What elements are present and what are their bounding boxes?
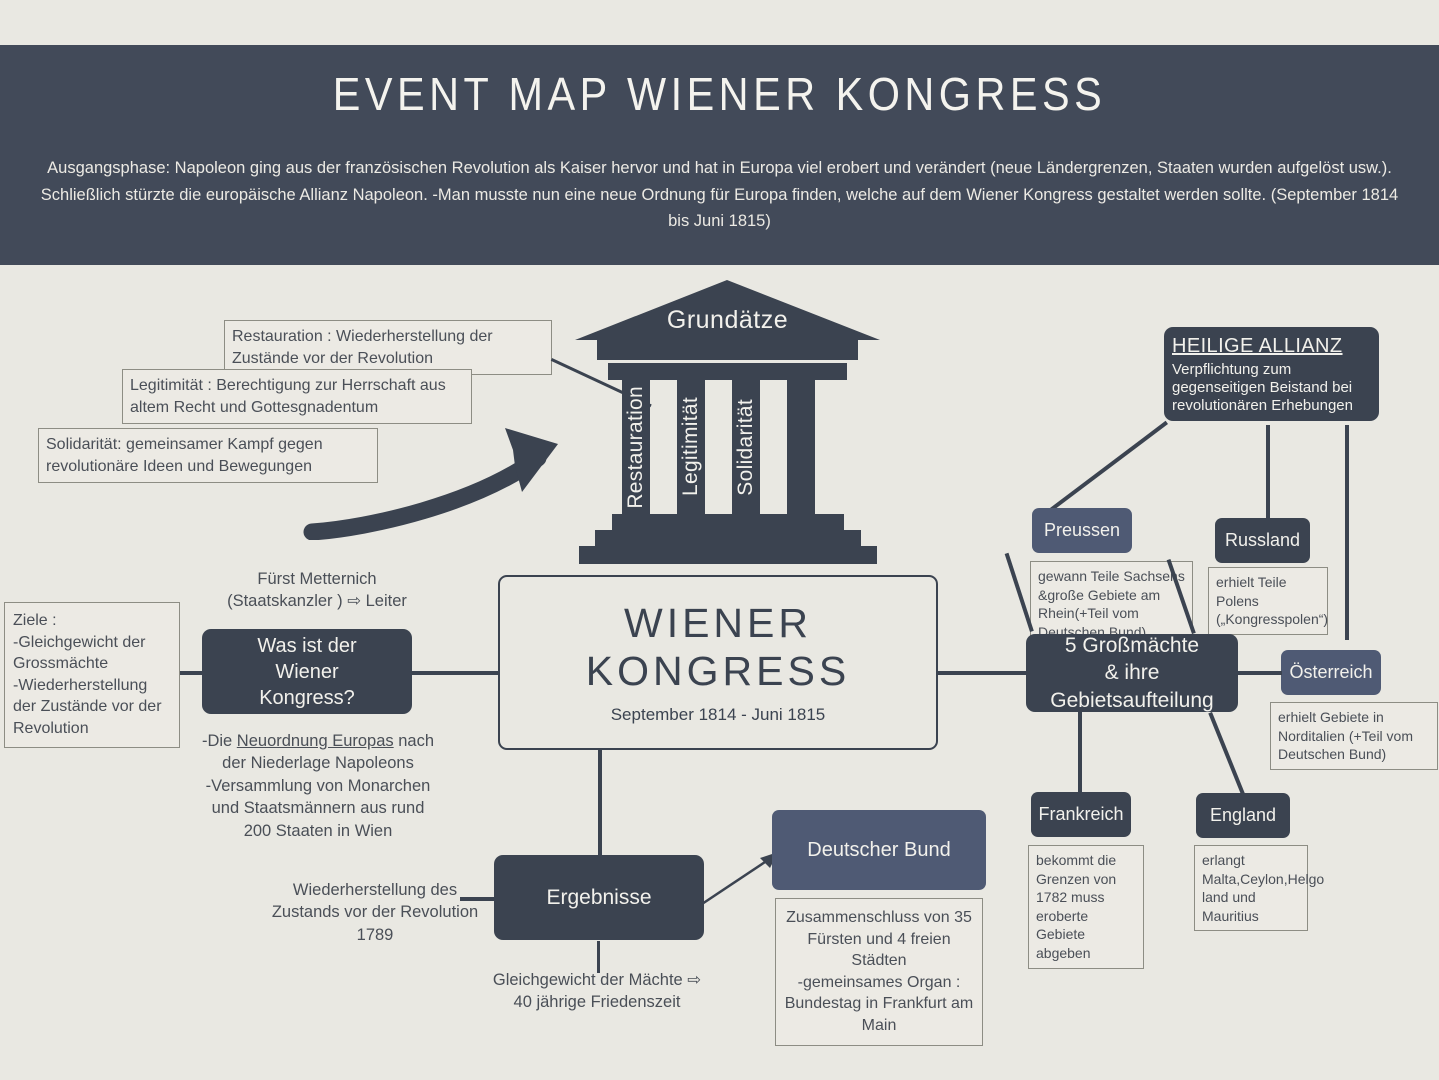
node-5-grossmaechte[interactable]: 5 Großmächte & ihre Gebietsaufteilung <box>1026 634 1238 712</box>
metternich-label: Fürst Metternich (Staatskanzler ) ⇨ Leit… <box>192 568 442 613</box>
temple-column-blank <box>787 380 815 514</box>
deutscher-bund-detail: Zusammenschluss von 35 Fürsten und 4 fre… <box>775 898 983 1046</box>
node-oesterreich[interactable]: Österreich <box>1281 650 1381 695</box>
connector-allianz-to-preussen <box>1050 421 1168 511</box>
central-node-wiener-kongress[interactable]: WIENER KONGRESS September 1814 - Juni 18… <box>498 575 938 750</box>
node-frankreich[interactable]: Frankreich <box>1031 792 1131 837</box>
header-band: EVENT MAP WIENER KONGRESS Ausgangsphase:… <box>0 45 1439 265</box>
definition-line2: der Niederlage Napoleons <box>222 754 414 772</box>
central-title-line2: KONGRESS <box>586 647 850 695</box>
definition-underlined: Neuordnung Europas <box>237 732 394 750</box>
definition-line5: 200 Staaten in Wien <box>244 822 393 840</box>
temple-column-restauration: Restauration <box>622 380 650 514</box>
grossmaechte-line1: 5 Großmächte <box>1065 632 1199 659</box>
frankreich-detail: bekommt die Grenzen von 1782 muss erober… <box>1028 845 1144 969</box>
central-subtitle: September 1814 - Juni 1815 <box>611 704 826 726</box>
grossmaechte-line2: & ihre <box>1105 659 1160 686</box>
oesterreich-detail: erhielt Gebiete in Norditalien (+Teil vo… <box>1270 702 1438 770</box>
grossmaechte-line3: Gebietsaufteilung <box>1050 687 1213 714</box>
event-map-canvas: EVENT MAP WIENER KONGRESS Ausgangsphase:… <box>0 0 1439 1080</box>
page-title: EVENT MAP WIENER KONGRESS <box>72 67 1367 121</box>
header-intro-text: Ausgangsphase: Napoleon ging aus der fra… <box>35 155 1405 235</box>
connector-allianz-to-russland <box>1266 425 1270 520</box>
node-was-ist-der-wiener-kongress[interactable]: Was ist der Wiener Kongress? <box>202 629 412 714</box>
node-russland[interactable]: Russland <box>1215 518 1310 563</box>
heilige-allianz-text: Verpflichtung zum gegenseitigen Beistand… <box>1172 361 1371 416</box>
node-heilige-allianz[interactable]: HEILIGE ALLIANZ Verpflichtung zum gegens… <box>1164 327 1379 421</box>
temple-column-label: Solidarität <box>734 399 758 496</box>
results-bottom-note: Gleichgewicht der Mächte ⇨ 40 jährige Fr… <box>487 969 707 1014</box>
node-label-line1: Was ist der <box>257 633 356 659</box>
connector-goals-to-question <box>180 671 204 675</box>
connector-grossmaechte-to-oesterreich <box>1238 671 1282 675</box>
temple-entablature <box>608 363 847 380</box>
connector-center-to-ergebnisse <box>598 750 602 855</box>
central-title-line1: WIENER <box>624 599 812 647</box>
temple-column-legitimitaet: Legitimität <box>677 380 705 514</box>
node-preussen[interactable]: Preussen <box>1032 508 1132 553</box>
connector-allianz-to-oesterreich <box>1345 425 1349 640</box>
results-left-note: Wiederherstellung des Zustands vor der R… <box>270 879 480 946</box>
temple-label: Grundätze <box>575 306 880 335</box>
russland-detail: erhielt Teile Polens („Kongresspolen“) <box>1208 567 1328 635</box>
node-ergebnisse[interactable]: Ergebnisse <box>494 855 704 940</box>
node-label-line3: Kongress? <box>259 685 355 711</box>
connector-grossmaechte-to-frankreich <box>1078 712 1082 792</box>
connector-note-to-ergebnisse <box>460 897 496 901</box>
definition-line1: -Die Neuordnung Europas nach <box>202 732 434 750</box>
temple-column-solidaritaet: Solidarität <box>732 380 760 514</box>
connector-center-to-grossmaechte <box>938 671 1026 675</box>
node-label-line2: Wiener <box>275 659 338 685</box>
principle-note-restauration: Restauration : Wiederherstellung der Zus… <box>224 320 552 375</box>
goals-box: Ziele : -Gleichgewicht der Grossmächte -… <box>4 602 180 748</box>
node-deutscher-bund[interactable]: Deutscher Bund <box>772 810 986 890</box>
definition-line3: -Versammlung von Monarchen <box>206 777 431 795</box>
connector-question-to-center <box>410 671 500 675</box>
temple-architrave <box>597 340 858 360</box>
temple-column-label: Legitimität <box>679 397 703 496</box>
curved-arrow-icon <box>300 400 600 540</box>
node-england[interactable]: England <box>1196 793 1290 838</box>
heilige-allianz-title: HEILIGE ALLIANZ <box>1172 333 1343 359</box>
principles-temple: Grundätze Restauration Legitimität Solid… <box>575 280 880 550</box>
temple-column-label: Restauration <box>624 386 648 509</box>
connector-grossmaechte-to-england <box>1208 712 1245 795</box>
temple-step-bottom <box>579 546 877 564</box>
definition-line4: und Staatsmännern aus rund <box>212 799 425 817</box>
england-detail: erlangt Malta,Ceylon,Helgo land und Maur… <box>1194 845 1308 931</box>
